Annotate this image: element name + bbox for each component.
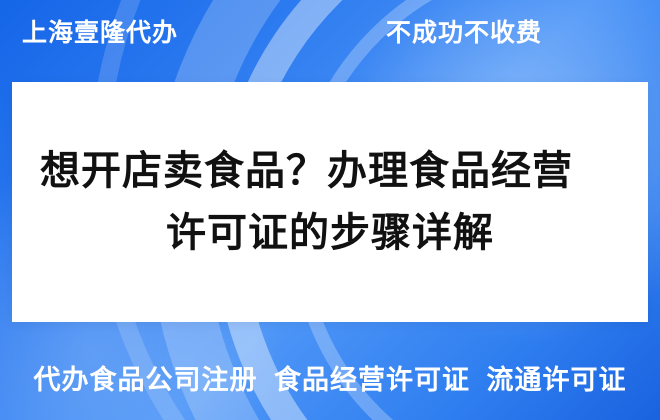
headline-line-2: 许可证的步骤详解 [30, 202, 630, 264]
poster-canvas: 上海壹隆代办 不成功不收费 想开店卖食品？办理食品经营 许可证的步骤详解 代办食… [0, 0, 660, 420]
page-title: 想开店卖食品？办理食品经营 许可证的步骤详解 [30, 140, 630, 264]
keyword-item-3: 流通许可证 [487, 365, 627, 395]
keyword-item-2: 食品经营许可证 [274, 365, 470, 395]
brand-name: 上海壹隆代办 [22, 16, 178, 50]
keyword-item-1: 代办食品公司注册 [33, 365, 257, 395]
slogan-text: 不成功不收费 [386, 16, 542, 50]
keyword-list: 代办食品公司注册 食品经营许可证 流通许可证 [0, 362, 660, 398]
headline-line-1: 想开店卖食品？办理食品经营 [30, 140, 630, 202]
headline-card: 想开店卖食品？办理食品经营 许可证的步骤详解 [12, 82, 648, 322]
